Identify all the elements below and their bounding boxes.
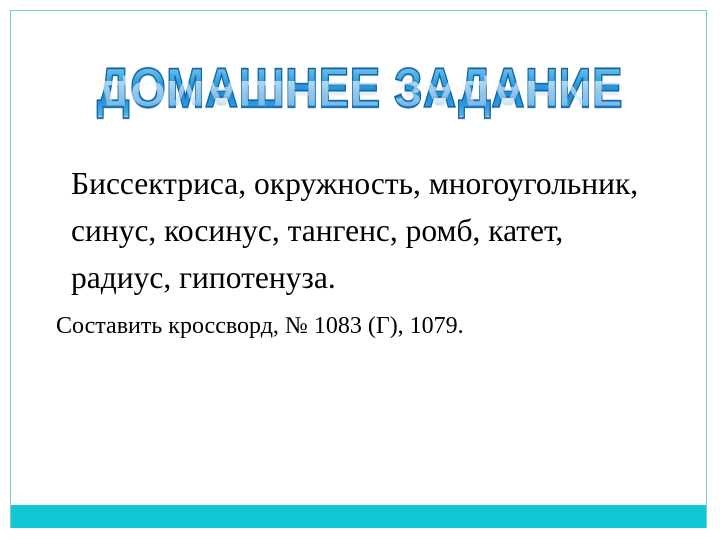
vocabulary-paragraph: Биссектриса, окружность, многоугольник, … xyxy=(0,160,720,301)
page-title-reflection: Домашнее задание xyxy=(65,75,655,110)
slide-canvas: Домашнее задание Домашнее задание Биссек… xyxy=(0,0,720,540)
assignment-paragraph: Составить кроссворд, № 1083 (Г), 1079. xyxy=(0,310,720,342)
bottom-accent-bar xyxy=(11,505,706,528)
slide-body-block: Биссектриса, окружность, многоугольник, … xyxy=(0,160,720,342)
slide-title-block: Домашнее задание Домашнее задание xyxy=(0,60,720,160)
